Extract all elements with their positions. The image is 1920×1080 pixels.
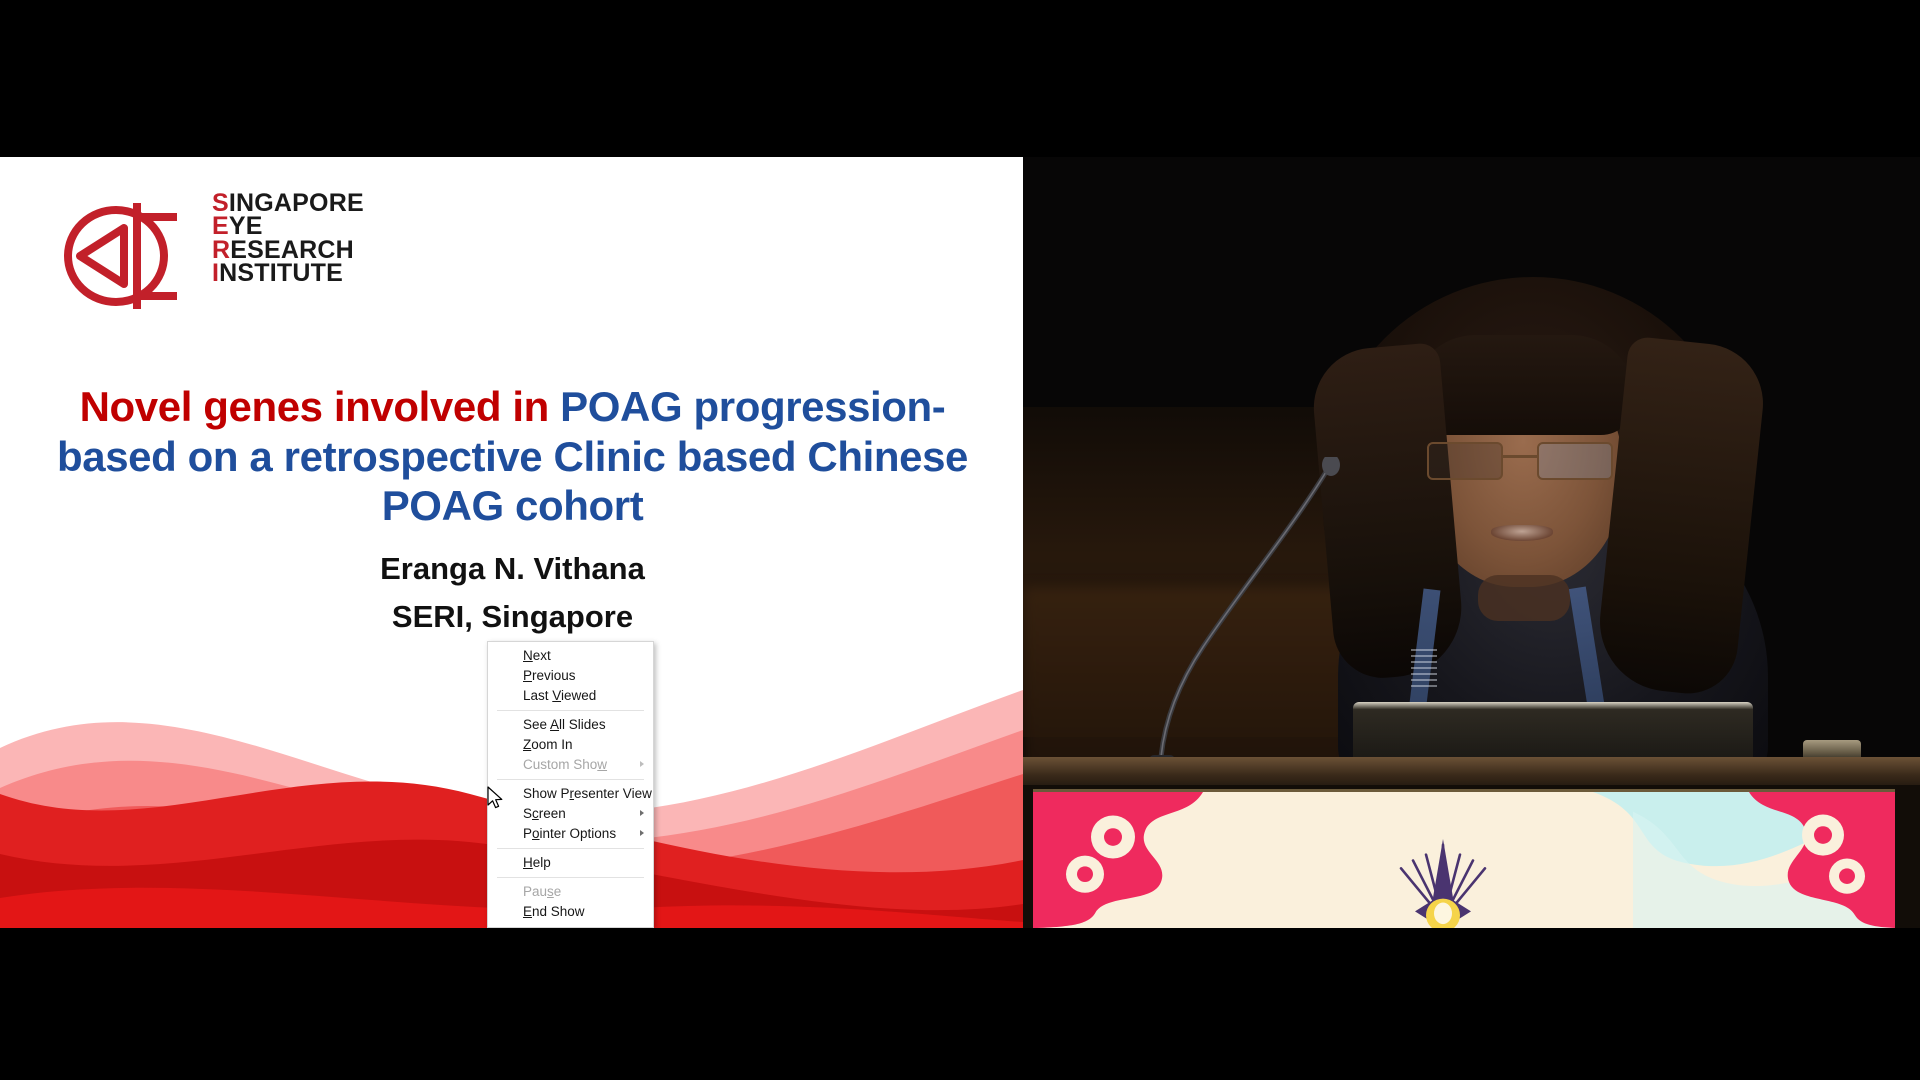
gooseneck-microphone-icon — [1093, 457, 1343, 787]
menu-item-pointer-options[interactable]: Pointer Options — [488, 824, 653, 844]
menu-item-label: Custom Show — [523, 757, 607, 772]
podium-banner — [1033, 789, 1895, 928]
menu-item-label: End Show — [523, 904, 585, 919]
content-stage: SINGAPORE EYE RESEARCH INSTITUTE Novel g… — [0, 157, 1920, 928]
submenu-arrow-icon — [640, 810, 644, 816]
glasses-lens-left — [1427, 442, 1503, 480]
menu-separator — [497, 710, 644, 711]
menu-item-end-show[interactable]: End Show — [488, 902, 653, 922]
menu-item-label: Pointer Options — [523, 826, 616, 841]
menu-separator — [497, 779, 644, 780]
menu-item-label: Previous — [523, 668, 576, 683]
menu-item-label: Last Viewed — [523, 688, 596, 703]
menu-item-label: Screen — [523, 806, 566, 821]
presenter-name: Eranga N. Vithana — [40, 545, 985, 593]
menu-item-label: Next — [523, 648, 551, 663]
slide-title: Novel genes involved in POAG progression… — [40, 382, 985, 531]
seri-eye-mark-icon — [62, 197, 182, 315]
seri-logo: SINGAPORE EYE RESEARCH INSTITUTE — [62, 192, 402, 317]
menu-item-label: Help — [523, 855, 551, 870]
menu-item-label: See All Slides — [523, 717, 606, 732]
menu-item-custom-show: Custom Show — [488, 755, 653, 775]
letterbox-top — [0, 0, 1920, 157]
menu-item-zoom-in[interactable]: Zoom In — [488, 735, 653, 755]
glasses-lens-right — [1537, 442, 1613, 480]
menu-item-help[interactable]: Help — [488, 853, 653, 873]
podium-top-surface — [1023, 757, 1920, 787]
menu-item-pause: Pause — [488, 882, 653, 902]
seri-wordmark-line-4: INSTITUTE — [212, 262, 364, 285]
menu-item-screen[interactable]: Screen — [488, 804, 653, 824]
submenu-arrow-icon — [640, 761, 644, 767]
speaker-neck — [1478, 575, 1570, 621]
screen-root: SINGAPORE EYE RESEARCH INSTITUTE Novel g… — [0, 0, 1920, 1080]
menu-item-next[interactable]: Next — [488, 646, 653, 666]
slide-title-red-part: Novel genes involved in — [80, 383, 561, 430]
seri-wordmark: SINGAPORE EYE RESEARCH INSTITUTE — [212, 192, 364, 285]
submenu-arrow-icon — [640, 830, 644, 836]
seri-rest-institute: NSTITUTE — [219, 259, 343, 287]
menu-item-show-presenter-view[interactable]: Show Presenter View — [488, 784, 653, 804]
badge-text-lines — [1411, 649, 1437, 691]
menu-item-label: Pause — [523, 884, 561, 899]
menu-item-previous[interactable]: Previous — [488, 666, 653, 686]
menu-item-last-viewed[interactable]: Last Viewed — [488, 686, 653, 706]
menu-item-see-all-slides[interactable]: See All Slides — [488, 715, 653, 735]
speaker-mouth — [1491, 525, 1553, 541]
menu-item-label: Zoom In — [523, 737, 573, 752]
video-pane[interactable]: ✦ — [1023, 157, 1920, 928]
slideshow-context-menu[interactable]: NextPreviousLast ViewedSee All SlidesZoo… — [487, 641, 654, 928]
glasses-icon — [1427, 442, 1619, 482]
menu-item-label: Show Presenter View — [523, 786, 652, 801]
laptop — [1353, 702, 1753, 764]
menu-separator — [497, 877, 644, 878]
menu-separator — [497, 848, 644, 849]
letterbox-bottom — [0, 928, 1920, 1080]
presenter-block: Eranga N. Vithana SERI, Singapore — [40, 545, 985, 641]
glasses-bridge — [1503, 455, 1539, 458]
presenter-affiliation: SERI, Singapore — [40, 593, 985, 641]
